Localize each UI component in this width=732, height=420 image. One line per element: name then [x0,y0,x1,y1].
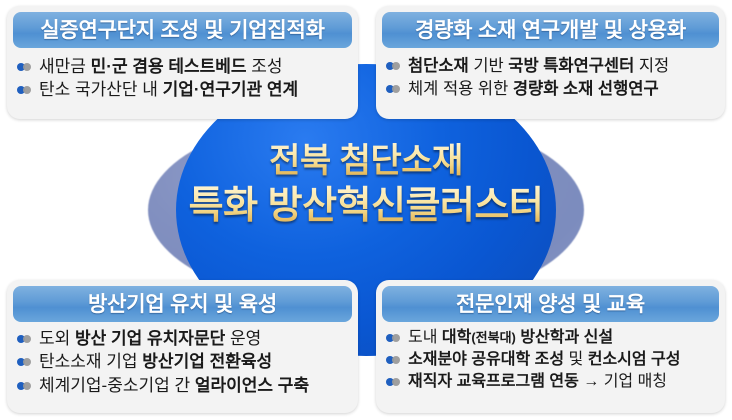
card-top-left[interactable]: 실증연구단지 조성 및 기업집적화 새만금 민·군 겸용 테스트베드 조성탄소 … [7,6,358,119]
list-item: 체계기업-중소기업 간 얼라이언스 구축 [17,374,350,397]
bullet-icon [17,63,32,71]
card-top-left-title: 실증연구단지 조성 및 기업집적화 [40,20,325,41]
bullet-icon [386,62,401,70]
list-item-label: 재직자 교육프로그램 연동 → 기업 매칭 [408,371,667,393]
bullet-icon [386,356,401,364]
list-item-label: 새만금 민·군 겸용 테스트베드 조성 [39,55,283,78]
list-item: 도외 방산 기업 유치자문단 운영 [17,327,350,350]
bullet-icon [17,358,32,366]
list-item-label: 체계기업-중소기업 간 얼라이언스 구축 [39,374,309,397]
bullet-icon [17,86,32,94]
card-bottom-left[interactable]: 방산기업 유치 및 육성 도외 방산 기업 유치자문단 운영탄소소재 기업 방산… [7,280,358,413]
list-item: 소재분야 공유대학 조성 및 컨소시엄 구성 [386,349,717,371]
list-item: 첨단소재 기반 국방 특화연구센터 지정 [386,55,717,78]
list-item: 탄소 국가산단 내 기업·연구기관 연계 [17,78,350,101]
card-bottom-right-title: 전문인재 양성 및 교육 [456,294,645,315]
list-item: 탄소소재 기업 방산기업 전환육성 [17,350,350,373]
list-item: 새만금 민·군 겸용 테스트베드 조성 [17,55,350,78]
list-item-label: 도내 대학(전북대) 방산학과 신설 [408,327,613,349]
list-item: 체계 적용 위한 경량화 소재 선행연구 [386,78,717,101]
bullet-icon [17,382,32,390]
card-bottom-right-body: 도내 대학(전북대) 방산학과 신설소재분야 공유대학 조성 및 컨소시엄 구성… [376,322,725,399]
card-bottom-left-header: 방산기업 유치 및 육성 [13,286,352,322]
bullet-icon [386,334,401,342]
list-item-label: 탄소 국가산단 내 기업·연구기관 연계 [39,78,298,101]
card-bottom-right-header: 전문인재 양성 및 교육 [382,286,719,322]
card-bottom-right[interactable]: 전문인재 양성 및 교육 도내 대학(전북대) 방산학과 신설소재분야 공유대학… [376,280,725,413]
list-item-label: 체계 적용 위한 경량화 소재 선행연구 [408,78,659,101]
list-item-label: 소재분야 공유대학 조성 및 컨소시엄 구성 [408,349,680,371]
card-top-right-header: 경량화 소재 연구개발 및 상용화 [382,12,719,48]
card-bottom-left-body: 도외 방산 기업 유치자문단 운영탄소소재 기업 방산기업 전환육성체계기업-중… [7,322,358,403]
list-item: 재직자 교육프로그램 연동 → 기업 매칭 [386,371,717,393]
card-top-right-title: 경량화 소재 연구개발 및 상용화 [415,20,686,41]
list-item: 도내 대학(전북대) 방산학과 신설 [386,327,717,349]
infographic-canvas: 전북 첨단소재 특화 방산혁신클러스터 실증연구단지 조성 및 기업집적화 새만… [0,0,732,420]
card-top-right-body: 첨단소재 기반 국방 특화연구센터 지정체계 적용 위한 경량화 소재 선행연구 [376,48,725,107]
list-item-label: 탄소소재 기업 방산기업 전환육성 [39,350,272,373]
bullet-icon [17,335,32,343]
bullet-icon [386,378,401,386]
card-top-left-body: 새만금 민·군 겸용 테스트베드 조성탄소 국가산단 내 기업·연구기관 연계 [7,48,358,108]
card-top-left-header: 실증연구단지 조성 및 기업집적화 [13,12,352,48]
card-bottom-left-title: 방산기업 유치 및 육성 [88,294,277,315]
card-top-right[interactable]: 경량화 소재 연구개발 및 상용화 첨단소재 기반 국방 특화연구센터 지정체계… [376,6,725,119]
bullet-icon [386,85,401,93]
list-item-label: 첨단소재 기반 국방 특화연구센터 지정 [408,55,669,78]
list-item-label: 도외 방산 기업 유치자문단 운영 [39,327,261,350]
